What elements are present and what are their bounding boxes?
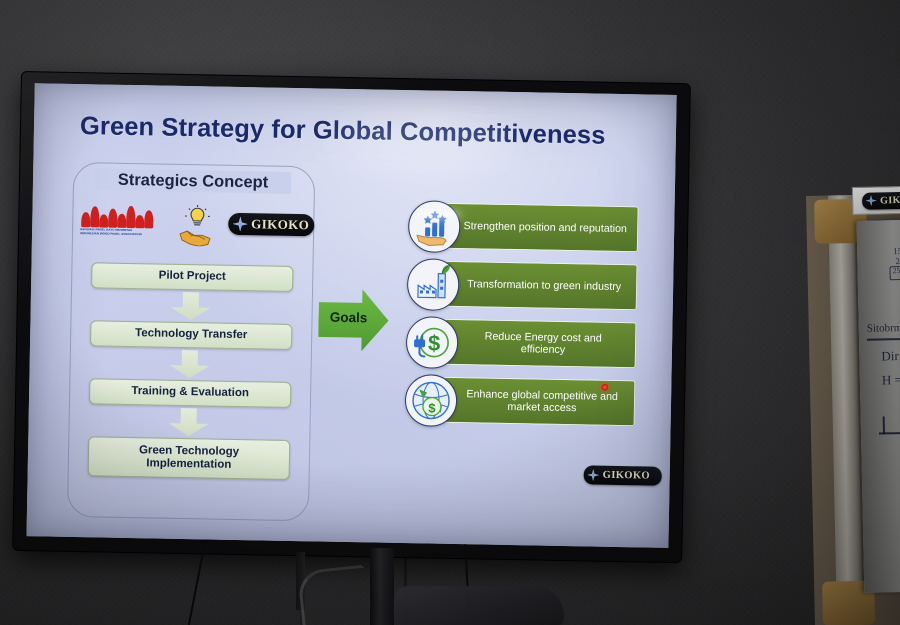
gikoko-footer-logo: GIKOKO bbox=[584, 465, 662, 485]
gikoko-star-icon bbox=[865, 195, 877, 207]
goal-label: Enhance global competitive and market ac… bbox=[460, 388, 624, 416]
svg-text:$: $ bbox=[428, 330, 441, 355]
flow-step-training-evaluation: Training & Evaluation bbox=[89, 378, 291, 408]
whiteboard-gikoko-banner: GIKOKO bbox=[852, 185, 900, 215]
goal-row: Transformation to green industry bbox=[407, 260, 638, 310]
slide-title: Green Strategy for Global Competitivenes… bbox=[80, 112, 640, 151]
goals-arrow-label: Goals bbox=[318, 309, 378, 325]
apki-trees-icon bbox=[80, 204, 158, 228]
flow-step-green-technology-implementation: Green Technology Implementation bbox=[88, 436, 291, 480]
apki-logo: ASOSIASI PANEL KAYU INDONESIA INDONESIAN… bbox=[80, 204, 159, 241]
goal-label: Transformation to green industry bbox=[467, 278, 621, 293]
tv-display: Green Strategy for Global Competitivenes… bbox=[13, 72, 690, 562]
whiteboard-note: 15 bbox=[893, 246, 900, 256]
gikoko-pill: GIKOKO bbox=[228, 213, 314, 237]
bag-on-floor bbox=[394, 586, 564, 625]
gikoko-star-icon bbox=[232, 216, 248, 232]
logo-row: ASOSIASI PANEL KAYU INDONESIA INDONESIAN… bbox=[76, 202, 309, 250]
apki-caption-line2: INDONESIAN WOOD PANEL ASSOCIATION bbox=[80, 232, 158, 237]
flow-step-label: Pilot Project bbox=[159, 270, 226, 285]
whiteboard-note: 2 bbox=[895, 256, 900, 266]
tv-screen: Green Strategy for Global Competitivenes… bbox=[26, 83, 676, 548]
whiteboard-note: 25 bbox=[892, 266, 900, 275]
goal-bar: Strengthen position and reputation bbox=[446, 203, 639, 253]
gikoko-pill-banner: GIKOKO bbox=[862, 190, 900, 209]
tv-stand-pole bbox=[370, 548, 394, 625]
laser-pointer-dot bbox=[601, 384, 608, 391]
flow-step-label: Green Technology Implementation bbox=[114, 443, 264, 473]
goal-label: Reduce Energy cost and efficiency bbox=[461, 330, 625, 358]
presentation-slide: Green Strategy for Global Competitivenes… bbox=[26, 83, 676, 548]
svg-text:$: $ bbox=[428, 401, 436, 416]
flow-step-pilot-project: Pilot Project bbox=[91, 262, 293, 292]
bulb-handshake-icon bbox=[176, 204, 219, 247]
gikoko-wordmark: GIKOKO bbox=[251, 216, 309, 233]
flow-step-label: Technology Transfer bbox=[135, 327, 247, 343]
goal-label: Strengthen position and reputation bbox=[463, 220, 627, 235]
goal-bar: Reduce Energy cost and efficiency bbox=[444, 319, 637, 369]
whiteboard-underline bbox=[867, 337, 900, 340]
flow-step-technology-transfer: Technology Transfer bbox=[90, 320, 292, 350]
room-scene: Green Strategy for Global Competitivenes… bbox=[0, 0, 900, 625]
gikoko-pill-footer: GIKOKO bbox=[584, 465, 662, 485]
flow-step-label: Training & Evaluation bbox=[131, 385, 249, 401]
goal-row: Strengthen position and reputation bbox=[408, 202, 639, 252]
whiteboard-note: Dir bbox=[881, 348, 899, 364]
whiteboard-note: H = bbox=[882, 372, 900, 388]
whiteboard-surface: 15 2 25 4 Sitobrm Dir H = bbox=[857, 219, 900, 593]
goal-bar: Transformation to green industry bbox=[445, 261, 638, 311]
gikoko-star-icon bbox=[587, 468, 600, 481]
goal-row: Enhance global competitive and market ac… bbox=[405, 376, 636, 426]
whiteboard-note: Sitobrm bbox=[867, 322, 900, 335]
gikoko-wordmark-footer: GIKOKO bbox=[603, 470, 651, 482]
goal-row: Reduce Energy cost and efficiency $ bbox=[406, 318, 637, 368]
whiteboard-tick bbox=[883, 416, 885, 434]
gikoko-wordmark-banner: GIKOKO bbox=[880, 194, 900, 206]
gikoko-logo: GIKOKO bbox=[228, 213, 314, 237]
whiteboard: 15 2 25 4 Sitobrm Dir H = GIKOKO bbox=[806, 193, 900, 625]
